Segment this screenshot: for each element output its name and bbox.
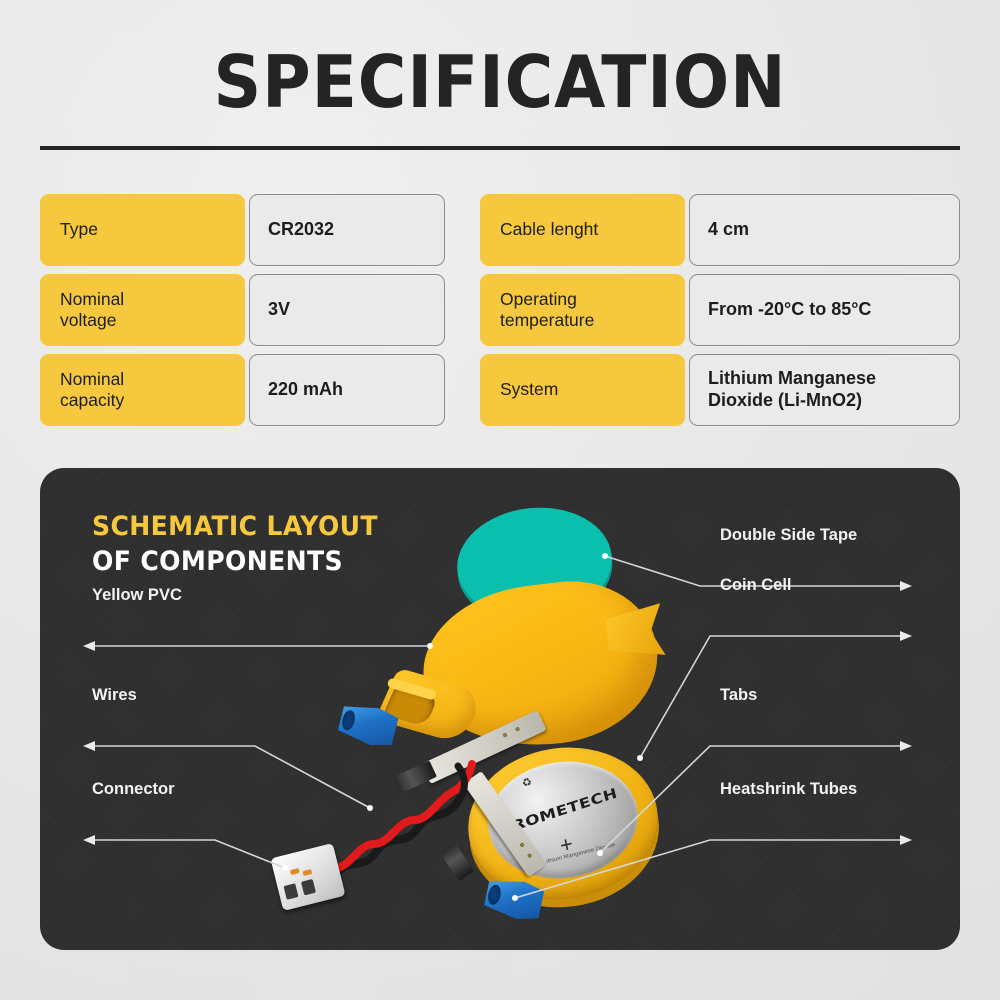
callout-yellow-pvc: Yellow PVC bbox=[92, 586, 182, 605]
connector-pin bbox=[302, 869, 312, 876]
spec-value-type: CR2032 bbox=[249, 194, 445, 266]
specification-table: Type CR2032 Cable lenght 4 cm Nominalvol… bbox=[40, 194, 960, 426]
connector-slot bbox=[283, 883, 298, 899]
spec-value-cable-length: 4 cm bbox=[689, 194, 960, 266]
spec-label-nominal-capacity: Nominalcapacity bbox=[40, 354, 245, 426]
title-divider bbox=[40, 146, 960, 150]
callout-tabs: Tabs bbox=[720, 686, 757, 705]
spec-label-type: Type bbox=[40, 194, 245, 266]
callout-double-side-tape: Double Side Tape bbox=[720, 526, 857, 545]
connector-slot bbox=[301, 879, 316, 895]
spec-label-system: System bbox=[480, 354, 685, 426]
spec-value-nominal-capacity: 220 mAh bbox=[249, 354, 445, 426]
spec-value-operating-temperature: From -20°C to 85°C bbox=[689, 274, 960, 346]
schematic-panel: SCHEMATIC LAYOUT OF COMPONENTS ♻ ROMETEC… bbox=[40, 468, 960, 950]
spec-value-nominal-voltage: 3V bbox=[249, 274, 445, 346]
callout-coin-cell: Coin Cell bbox=[720, 576, 792, 595]
connector-pin bbox=[290, 868, 300, 875]
spec-label-nominal-voltage: Nominalvoltage bbox=[40, 274, 245, 346]
page-title: SPECIFICATION bbox=[40, 46, 960, 118]
callout-wires: Wires bbox=[92, 686, 137, 705]
callout-heatshrink-tubes: Heatshrink Tubes bbox=[720, 780, 857, 799]
spec-label-cable-length: Cable lenght bbox=[480, 194, 685, 266]
spec-label-operating-temperature: Operatingtemperature bbox=[480, 274, 685, 346]
callout-connector: Connector bbox=[92, 780, 175, 799]
spec-value-system: Lithium ManganeseDioxide (Li-MnO2) bbox=[689, 354, 960, 426]
